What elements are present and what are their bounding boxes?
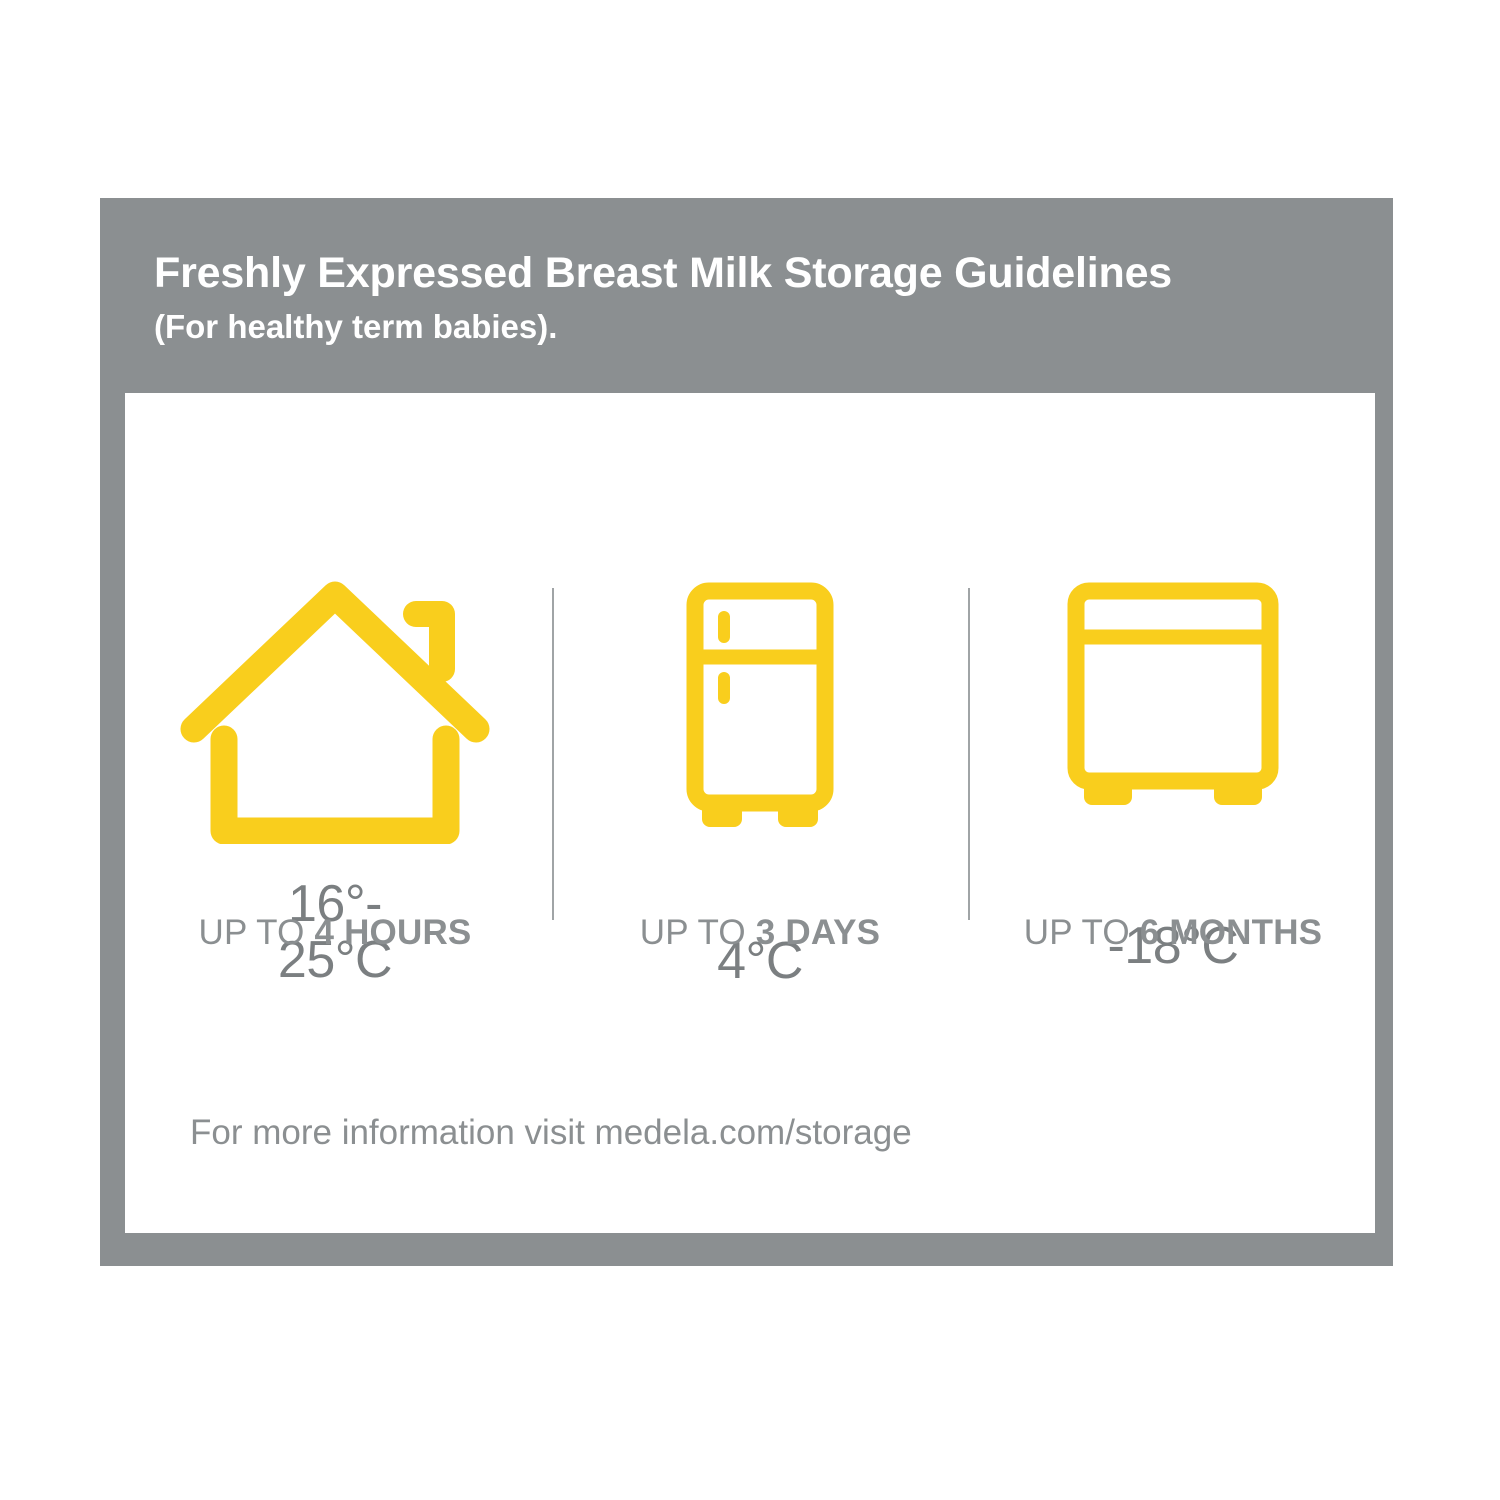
caption-lead: UP TO bbox=[640, 913, 756, 952]
refrigerator-icon-wrap: 4°C bbox=[555, 579, 965, 869]
column-divider-2 bbox=[968, 588, 970, 920]
storage-options-row: 16°- 25°C UP TO 4 HOURS bbox=[125, 393, 1375, 993]
footer-info-text: For more information visit medela.com/st… bbox=[190, 1113, 912, 1153]
caption-freezer: UP TO 6 MONTHS bbox=[971, 913, 1375, 953]
page-title: Freshly Expressed Breast Milk Storage Gu… bbox=[154, 250, 1334, 296]
storage-option-room-temperature: 16°- 25°C UP TO 4 HOURS bbox=[125, 393, 545, 993]
content-panel: 16°- 25°C UP TO 4 HOURS bbox=[125, 393, 1375, 1233]
caption-duration: 6 MONTHS bbox=[1140, 913, 1322, 952]
freezer-icon-wrap: -18°C bbox=[971, 579, 1375, 869]
house-icon-wrap: 16°- 25°C bbox=[125, 579, 545, 869]
caption-lead: UP TO bbox=[199, 913, 315, 952]
caption-room-temperature: UP TO 4 HOURS bbox=[125, 913, 545, 953]
column-divider-1 bbox=[552, 588, 554, 920]
caption-refrigerator: UP TO 3 DAYS bbox=[555, 913, 965, 953]
page-subtitle: (For healthy term babies). bbox=[154, 306, 1334, 347]
house-icon bbox=[180, 579, 490, 844]
header: Freshly Expressed Breast Milk Storage Gu… bbox=[154, 250, 1334, 348]
refrigerator-icon bbox=[680, 579, 840, 831]
caption-duration: 4 HOURS bbox=[314, 913, 471, 952]
caption-duration: 3 DAYS bbox=[756, 913, 880, 952]
storage-option-freezer: -18°C UP TO 6 MONTHS bbox=[971, 393, 1375, 993]
storage-guidelines-infographic: Freshly Expressed Breast Milk Storage Gu… bbox=[100, 198, 1393, 1266]
storage-option-refrigerator: 4°C UP TO 3 DAYS bbox=[555, 393, 965, 993]
caption-lead: UP TO bbox=[1024, 913, 1140, 952]
freezer-icon bbox=[1062, 579, 1284, 831]
